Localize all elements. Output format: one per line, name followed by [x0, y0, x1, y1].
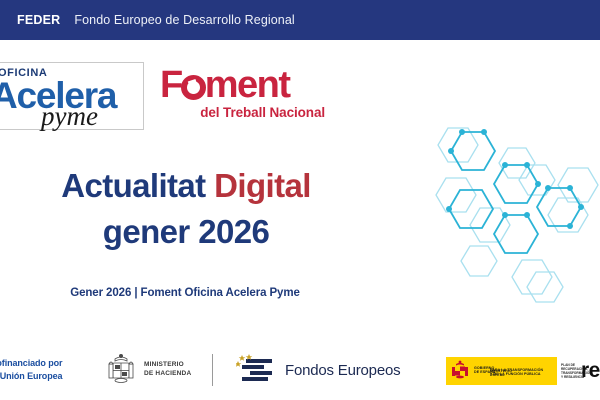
page-subtitle: Gener 2026 | Foment Oficina Acelera Pyme: [0, 287, 370, 299]
fondos-europeos-logo: Fondos Europeos: [236, 354, 400, 386]
foment-o-icon: [181, 75, 206, 100]
gobierno-labels: GOBIERNO DE ESPAÑA MINISTERIO PARA LA TR…: [474, 366, 552, 376]
hacienda-line2: DE HACIENDA: [144, 369, 191, 378]
feder-header-bar: FEDER Fondo Europeo de Desarrollo Region…: [0, 0, 600, 40]
hexagon-network-icon: [410, 120, 600, 340]
hacienda-line1: MINISTERIO: [144, 360, 191, 369]
hacienda-label: MINISTERIO DE HACIENDA: [144, 360, 191, 378]
cofinanciado-line1: Cofinanciado por: [0, 357, 62, 370]
foment-letters-ment: ment: [205, 64, 290, 106]
acelera-pyme-label: pyme: [41, 103, 98, 130]
ministerio-hacienda-logo: MINISTERIO DE HACIENDA: [104, 352, 191, 386]
foment-logo: Fment del Treball Nacional: [160, 66, 325, 120]
escudo-espana-color-icon: [450, 360, 470, 382]
cofinanciado-line2: la Unión Europea: [0, 370, 62, 383]
title-line1-primary: Actualitat: [61, 167, 214, 204]
foment-letter-f: F: [160, 64, 182, 106]
footer-logo-bar: Cofinanciado por la Unión Europea: [0, 345, 600, 400]
foment-subtitle: del Treball Nacional: [160, 105, 325, 120]
title-line1-accent: Digital: [214, 167, 311, 204]
gobierno-yellow-block: GOBIERNO DE ESPAÑA MINISTERIO PARA LA TR…: [446, 357, 557, 385]
hexagon-network-graphic: [410, 120, 600, 340]
gobierno-espana-logo: GOBIERNO DE ESPAÑA MINISTERIO PARA LA TR…: [446, 357, 600, 385]
feder-tag: FEDER: [17, 13, 60, 27]
cofinanciado-ue-label: Cofinanciado por la Unión Europea: [0, 357, 62, 383]
footer-divider: [212, 354, 213, 386]
escudo-espana-icon: [104, 352, 138, 386]
page-title: Actualitat Digital gener 2026: [0, 163, 372, 254]
recuperacion-wordmark: re: [581, 359, 600, 383]
fondos-europeos-label: Fondos Europeos: [285, 362, 400, 379]
fondos-europeos-icon: [236, 354, 276, 386]
acelera-pyme-logo: OFICINA Acelera pyme: [0, 62, 144, 130]
feder-description: Fondo Europeo de Desarrollo Regional: [74, 13, 294, 27]
foment-wordmark: Fment: [160, 66, 325, 104]
title-line2: gener 2026: [103, 213, 269, 250]
